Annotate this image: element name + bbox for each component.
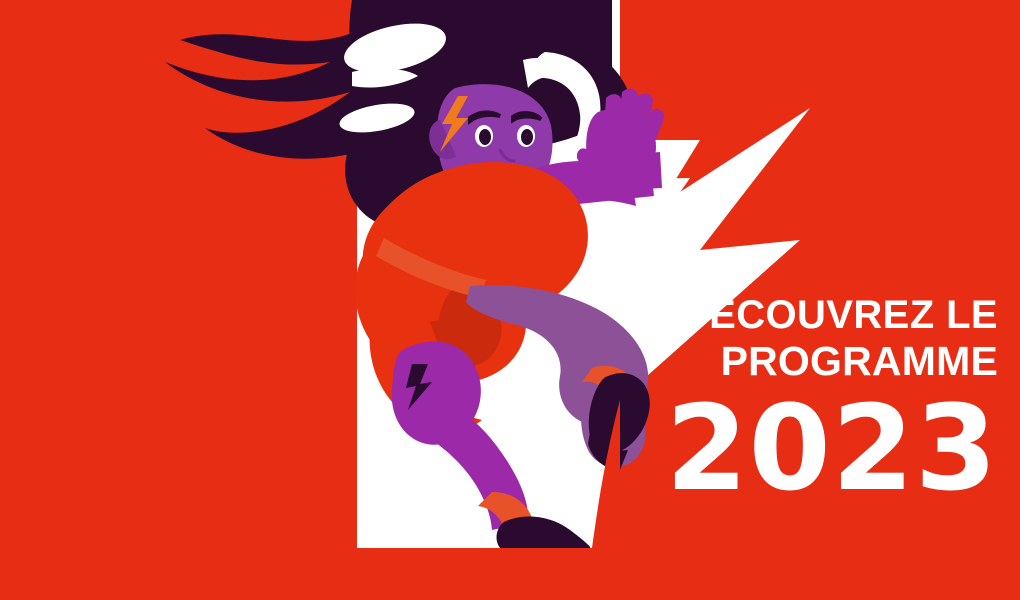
- poster-canvas: DÉCOUVREZ LE PROGRAMME 2023: [0, 0, 1020, 600]
- illustration-artwork: [0, 0, 1020, 600]
